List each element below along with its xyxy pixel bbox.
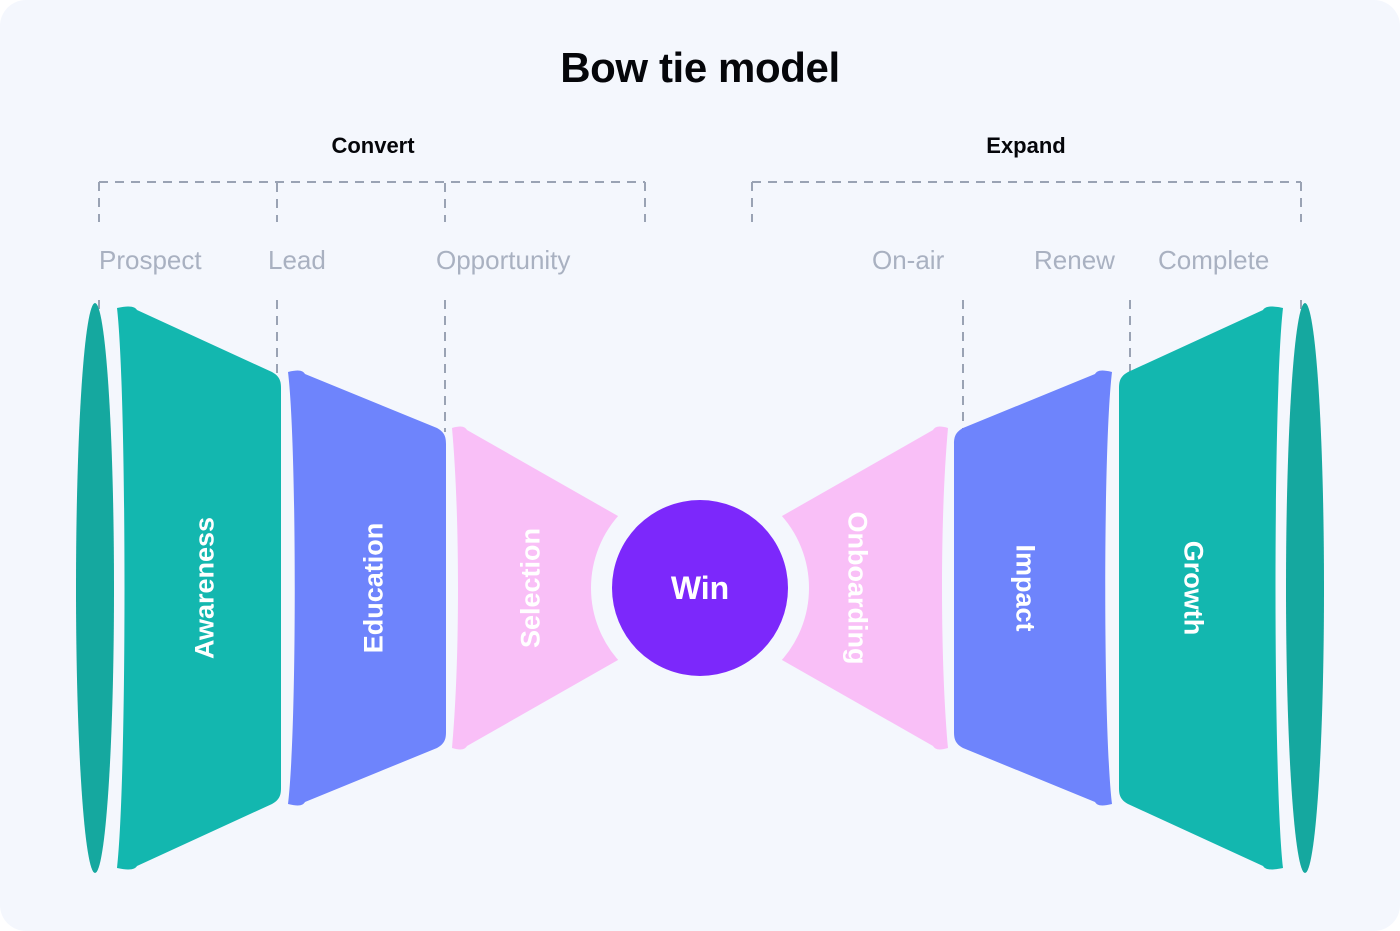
stage-label-opportunity: Opportunity bbox=[436, 245, 570, 276]
stage-label-prospect: Prospect bbox=[99, 245, 202, 276]
win-label: Win bbox=[671, 570, 729, 607]
segment-label-awareness: Awareness bbox=[190, 517, 221, 659]
diagram-canvas: Bow tie model Convert Expand bbox=[0, 0, 1400, 931]
stage-label-complete: Complete bbox=[1158, 245, 1269, 276]
segment-label-education: Education bbox=[359, 523, 390, 654]
win-circle: Win bbox=[612, 500, 788, 676]
funnel-layer bbox=[0, 0, 1400, 931]
segment-label-growth: Growth bbox=[1178, 541, 1209, 636]
segment-label-impact: Impact bbox=[1010, 544, 1041, 631]
stage-label-lead: Lead bbox=[268, 245, 326, 276]
segment-label-selection: Selection bbox=[516, 528, 547, 648]
left-cap-ellipse bbox=[76, 303, 114, 873]
right-cap-ellipse bbox=[1286, 303, 1324, 873]
segment-label-onboarding: Onboarding bbox=[842, 512, 873, 665]
stage-label-renew: Renew bbox=[1034, 245, 1115, 276]
stage-label-on-air: On-air bbox=[872, 245, 944, 276]
